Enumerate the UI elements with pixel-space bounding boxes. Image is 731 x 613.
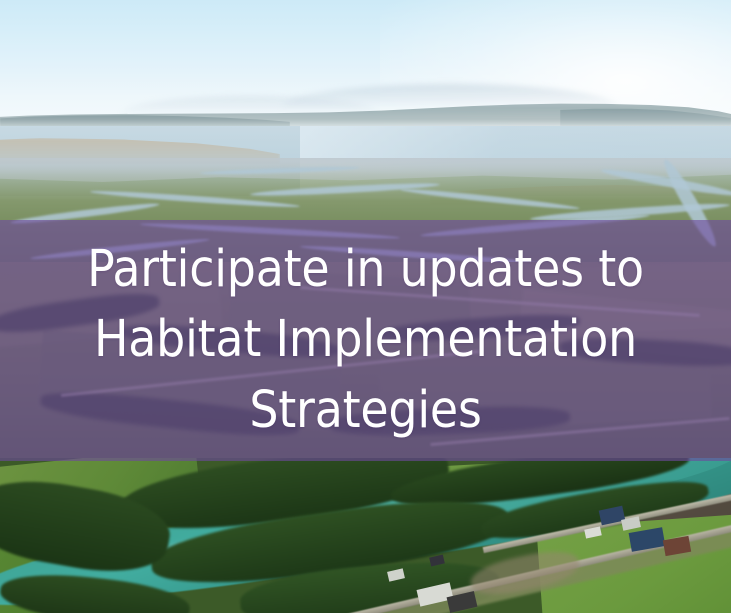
- page-title: Participate in updates to Habitat Implem…: [22, 235, 709, 446]
- river-valley-foreground: [0, 458, 731, 613]
- hero-banner: Participate in updates to Habitat Implem…: [0, 0, 731, 613]
- title-overlay-band: Participate in updates to Habitat Implem…: [0, 220, 731, 461]
